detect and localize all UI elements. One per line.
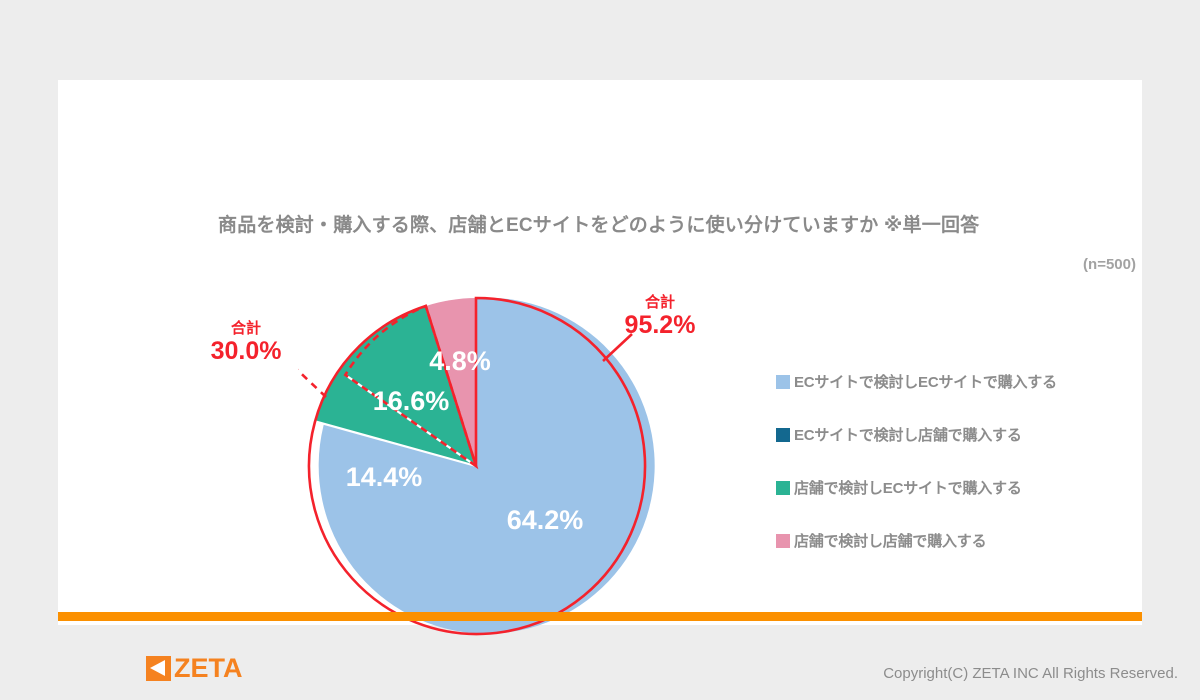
legend-swatch-icon-1	[776, 428, 790, 442]
copyright-notice: Copyright(C) ZETA INC All Rights Reserve…	[758, 665, 1178, 682]
report-card: 商品を検討・購入する際、店舗とECサイトをどのように使い分けていますか ※単一回…	[58, 80, 1142, 625]
zeta-logo-text: ZETA	[174, 655, 243, 682]
annotation-30-value: 30.0%	[211, 337, 282, 365]
sample-size-label: (n=500)	[58, 256, 1136, 273]
legend-item-2[interactable]: 店舗で検討しECサイトで購入する	[776, 479, 1136, 496]
legend-item-1[interactable]: ECサイトで検討し店舗で購入する	[776, 426, 1136, 443]
legend-swatch-icon-2	[776, 481, 790, 495]
screenshot-root: 商品を検討・購入する際、店舗とECサイトをどのように使い分けていますか ※単一回…	[0, 0, 1200, 700]
pie-chart: 64.2% 14.4% 16.6% 4.8% 合計 95.2% 合計 30.0%	[298, 285, 668, 650]
legend-swatch-icon-3	[776, 534, 790, 548]
legend-swatch-icon-0	[776, 375, 790, 389]
annotation-30-kanji: 合計	[230, 319, 261, 337]
zeta-arrow-mark-icon	[146, 656, 171, 681]
chart-legend: ECサイトで検討しECサイトで購入する ECサイトで検討し店舗で購入する 店舗で…	[776, 373, 1136, 549]
page-title: 商品を検討・購入する際、店舗とECサイトをどのように使い分けていますか ※単一回…	[218, 210, 1118, 237]
legend-label-0: ECサイトで検討しECサイトで購入する	[794, 371, 1057, 392]
zeta-logo: ZETA	[146, 655, 243, 682]
legend-label-3: 店舗で検討し店舗で購入する	[794, 530, 986, 551]
legend-label-2: 店舗で検討しECサイトで購入する	[794, 477, 1022, 498]
legend-item-0[interactable]: ECサイトで検討しECサイトで購入する	[776, 373, 1136, 390]
legend-label-1: ECサイトで検討し店舗で購入する	[794, 424, 1022, 445]
card-bottom-accent-bar	[58, 612, 1142, 621]
annotation-95-value: 95.2%	[625, 311, 696, 339]
legend-item-3[interactable]: 店舗で検討し店舗で購入する	[776, 532, 1136, 549]
pie-annotations-layer: 合計 95.2% 合計 30.0%	[298, 285, 668, 650]
annotation-95-kanji: 合計	[644, 293, 675, 311]
